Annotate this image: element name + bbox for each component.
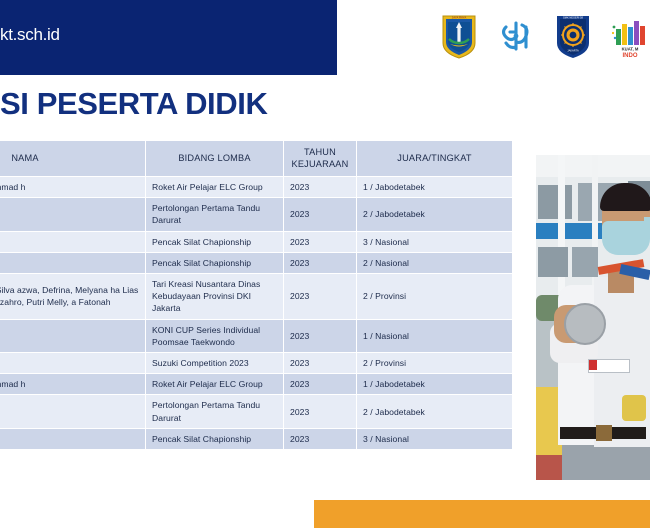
cell-bidang: Roket Air Pelajar ELC Group (146, 374, 284, 395)
svg-text:JAKARTA: JAKARTA (567, 49, 579, 53)
tahun-line-1: TAHUN (304, 147, 336, 157)
svg-text:SMK NEGERI 58: SMK NEGERI 58 (563, 15, 583, 19)
cell-juara: 2 / Nasional (357, 252, 513, 273)
cell-bidang: Pencak Silat Chapionship (146, 428, 284, 449)
cell-tahun: 2023 (284, 177, 357, 198)
cell-bidang: KONI CUP Series Individual Poomsae Taekw… (146, 319, 284, 352)
table-body: ta, Dafa Asyad, Muhammad h Roket Air Pel… (0, 177, 513, 450)
tahun-line-2: KEJUARAAN (292, 159, 349, 169)
cell-nama: nisa, Saskia Maelani, Silva azwa, Defrin… (0, 274, 146, 320)
page-title: ASI PESERTA DIDIK (0, 86, 267, 122)
cell-juara: 2 / Provinsi (357, 274, 513, 320)
cell-tahun: 2023 (284, 353, 357, 374)
face-mask-icon (602, 221, 650, 255)
table-header-row: NAMA BIDANG LOMBA TAHUN KEJUARAAN JUARA/… (0, 141, 513, 177)
achievement-table: NAMA BIDANG LOMBA TAHUN KEJUARAAN JUARA/… (0, 140, 513, 450)
cell-nama: ta, Dafa Asyad, Muhammad h (0, 177, 146, 198)
student-with-medal-photo (536, 155, 650, 480)
cell-nama (0, 319, 146, 352)
logo-strip: JAYA RAYA (439, 12, 650, 60)
achievement-table-wrapper: NAMA BIDANG LOMBA TAHUN KEJUARAAN JUARA/… (0, 140, 512, 450)
table-row: nisa, Saskia Maelani, Silva azwa, Defrin… (0, 274, 513, 320)
cell-juara: 2 / Jabodetabek (357, 395, 513, 428)
cell-juara: 1 / Jabodetabek (357, 374, 513, 395)
cell-bidang: Suzuki Competition 2023 (146, 353, 284, 374)
cell-juara: 2 / Provinsi (357, 353, 513, 374)
cell-nama (0, 198, 146, 231)
cell-nama: d Ridho (0, 353, 146, 374)
svg-text:JAYA RAYA: JAYA RAYA (452, 15, 467, 19)
table-row: pe Pencak Silat Chapionship 2023 3 / Nas… (0, 428, 513, 449)
cell-nama (0, 252, 146, 273)
cell-juara: 2 / Jabodetabek (357, 198, 513, 231)
table-row: Pertolongan Pertama Tandu Darurat 2023 2… (0, 198, 513, 231)
cell-bidang: Tari Kreasi Nusantara Dinas Kebudayaan P… (146, 274, 284, 320)
cell-tahun: 2023 (284, 395, 357, 428)
column-header-juara-tingkat: JUARA/TINGKAT (357, 141, 513, 177)
table-row: ta, Dafa Asyad, Muhammad h Roket Air Pel… (0, 177, 513, 198)
cell-tahun: 2023 (284, 274, 357, 320)
cell-tahun: 2023 (284, 231, 357, 252)
cell-bidang: Pertolongan Pertama Tandu Darurat (146, 395, 284, 428)
cell-bidang: Roket Air Pelajar ELC Group (146, 177, 284, 198)
school-emblem-icon: SMK NEGERI 58 JAKARTA (553, 13, 593, 59)
tut-wuri-handayani-icon (496, 13, 536, 59)
kuat-indonesia-logo-icon: KUAT, M INDO (610, 13, 650, 59)
column-header-nama: NAMA (0, 141, 146, 177)
footer-accent-bar (314, 500, 650, 528)
cell-tahun: 2023 (284, 428, 357, 449)
cell-tahun: 2023 (284, 374, 357, 395)
medal-icon (564, 303, 606, 345)
cell-bidang: Pertolongan Pertama Tandu Darurat (146, 198, 284, 231)
table-row: KONI CUP Series Individual Poomsae Taekw… (0, 319, 513, 352)
cell-nama (0, 395, 146, 428)
cell-juara: 3 / Nasional (357, 428, 513, 449)
cell-tahun: 2023 (284, 252, 357, 273)
cell-nama: pe (0, 428, 146, 449)
jakarta-provincial-emblem-icon: JAYA RAYA (439, 13, 479, 59)
cell-bidang: Pencak Silat Chapionship (146, 231, 284, 252)
cell-tahun: 2023 (284, 319, 357, 352)
cell-tahun: 2023 (284, 198, 357, 231)
header-banner: kt.sch.id (0, 0, 337, 75)
table-row: Pencak Silat Chapionship 2023 2 / Nasion… (0, 252, 513, 273)
cell-nama: pe (0, 231, 146, 252)
cell-juara: 1 / Jabodetabek (357, 177, 513, 198)
cell-bidang: Pencak Silat Chapionship (146, 252, 284, 273)
cell-juara: 3 / Nasional (357, 231, 513, 252)
svg-text:INDO: INDO (623, 53, 638, 59)
table-row: d Ridho Suzuki Competition 2023 2023 2 /… (0, 353, 513, 374)
svg-text:KUAT, M: KUAT, M (622, 47, 639, 52)
cell-juara: 1 / Nasional (357, 319, 513, 352)
table-row: Pertolongan Pertama Tandu Darurat 2023 2… (0, 395, 513, 428)
cell-nama: ta, Dafa Asyad, Muhammad h (0, 374, 146, 395)
table-row: ta, Dafa Asyad, Muhammad h Roket Air Pel… (0, 374, 513, 395)
website-url-text: kt.sch.id (0, 25, 60, 45)
column-header-bidang-lomba: BIDANG LOMBA (146, 141, 284, 177)
column-header-tahun-kejuaraan: TAHUN KEJUARAAN (284, 141, 357, 177)
table-row: pe Pencak Silat Chapionship 2023 3 / Nas… (0, 231, 513, 252)
